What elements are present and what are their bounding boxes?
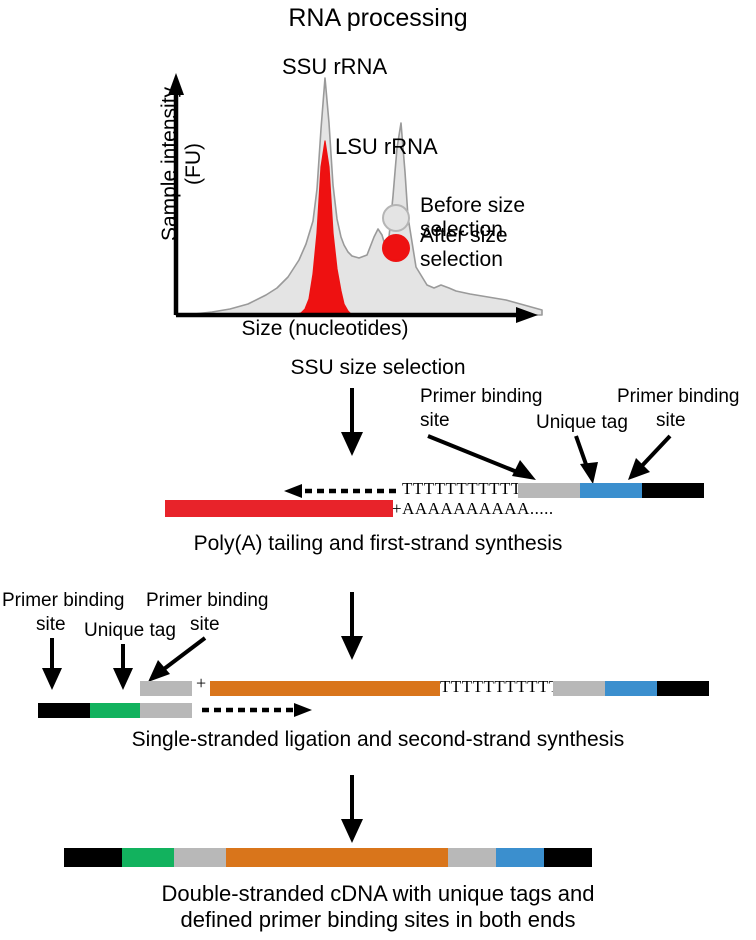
peak-label-lsu: LSU rRNA <box>335 135 438 160</box>
construct2-red-rna-bar <box>165 500 393 517</box>
legend-item-after: After size selection <box>382 233 560 263</box>
construct3-orange-cdna-bar <box>210 681 440 696</box>
poly-t-sequence-construct2: TTTTTTTTTTT <box>402 479 522 499</box>
second-strand-synthesis-arrow <box>198 700 318 720</box>
construct2-blue-unique-tag <box>580 483 642 498</box>
callout3-primer-binding-right-line1: Primer binding <box>146 590 269 611</box>
construct4-black-primer-site-left <box>64 848 122 867</box>
step-arrow-1 <box>332 388 372 460</box>
first-strand-synthesis-arrow <box>278 482 398 500</box>
construct2-grey-segment <box>518 483 580 498</box>
construct3-plus-sign: + <box>196 673 206 694</box>
peak-label-ssu: SSU rRNA <box>282 55 387 80</box>
step-arrow-3 <box>332 775 372 847</box>
poly-t-sequence-construct3: TTTTTTTTTTT <box>440 677 560 697</box>
callout2-primer-binding-line2: site <box>420 410 450 431</box>
legend-swatch-red-circle-icon <box>382 234 410 262</box>
construct3-black-primer-site-lower <box>38 703 90 718</box>
construct3-blue-unique-tag <box>605 681 657 696</box>
construct4-grey-segment-left <box>174 848 226 867</box>
construct4-black-primer-site-right <box>544 848 592 867</box>
callout3r-primer-binding-line2: site <box>656 410 686 431</box>
step-arrow-2 <box>332 592 372 664</box>
step-label-ss-ligation: Single-stranded ligation and second-stra… <box>0 728 756 752</box>
callout2-primer-binding-line1: Primer binding <box>420 386 543 407</box>
poly-a-sequence-construct2: +AAAAAAAAAA..... <box>392 499 554 519</box>
construct3-grey-adapter-upper <box>140 681 192 696</box>
construct3-grey-segment <box>553 681 605 696</box>
chart-legend: Before size selection After size selecti… <box>382 203 560 263</box>
electropherogram-chart: Sample intensity (FU) Size (nucleotides)… <box>120 45 560 345</box>
figure-title: RNA processing <box>0 4 756 32</box>
callout3r-primer-binding-line1: Primer binding <box>617 386 740 407</box>
caption-line-2: defined primer binding sites in both end… <box>0 908 756 933</box>
construct3-green-unique-tag <box>90 703 140 718</box>
rna-processing-figure: RNA processing Sample intensity (FU) Siz… <box>0 0 756 940</box>
construct4-green-unique-tag <box>122 848 174 867</box>
construct4-orange-cdna <box>226 848 448 867</box>
construct4-grey-segment-right <box>448 848 496 867</box>
caption-line-1: Double-stranded cDNA with unique tags an… <box>0 882 756 907</box>
y-axis-arrowhead <box>168 73 184 95</box>
callout3-primer-binding-right-line2: site <box>190 614 220 635</box>
legend-label-after: After size selection <box>420 224 560 272</box>
legend-swatch-grey-circle-icon <box>382 204 410 232</box>
construct4-blue-unique-tag <box>496 848 544 867</box>
callout3-primer-binding-left-line1: Primer binding <box>2 590 125 611</box>
callout3-primer-binding-left-line2: site <box>36 614 66 635</box>
step-label-ssu-size-selection: SSU size selection <box>0 356 756 380</box>
step-label-polya-tailing: Poly(A) tailing and first-strand synthes… <box>0 532 756 556</box>
construct2-black-primer-site <box>642 483 704 498</box>
construct3-grey-segment-lower <box>140 703 192 718</box>
construct3-black-primer-site <box>657 681 709 696</box>
